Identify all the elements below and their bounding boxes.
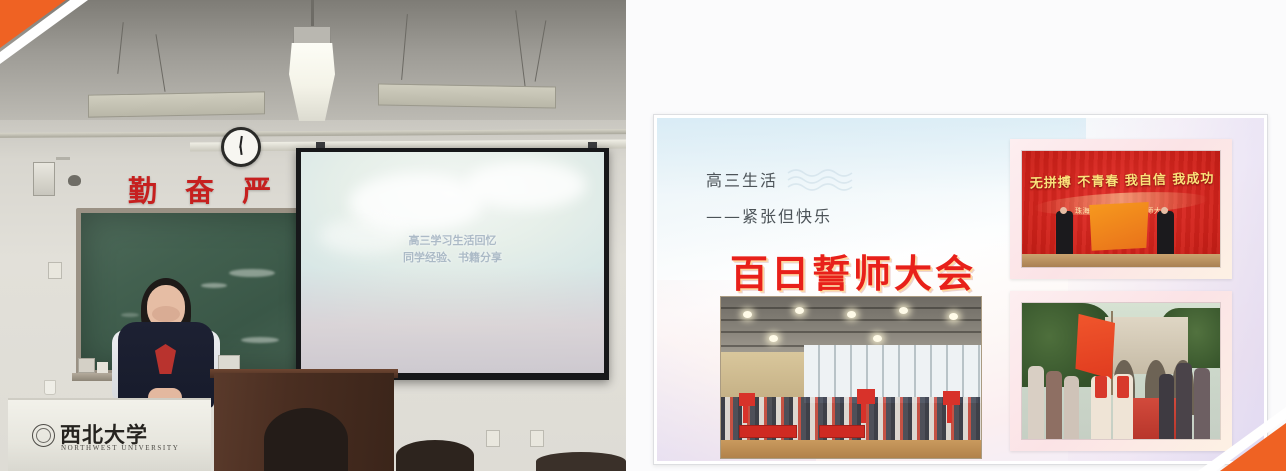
wall-speaker xyxy=(33,162,55,196)
university-name-en: NORTHWEST UNIVERSITY xyxy=(61,444,179,452)
slide-title: 百日誓师大会 xyxy=(730,243,976,298)
paper-cup xyxy=(44,380,56,395)
slide-pane: 高三生活 ——紧张但快乐 百日誓师大会 xyxy=(626,0,1286,471)
blackboard-eraser xyxy=(78,358,95,373)
ceiling-light-panel xyxy=(88,91,265,117)
audience-head xyxy=(264,408,348,471)
red-banner-ceremony-photo: 无拼搏 不青春 我自信 我成功 珠海一中 高三百日誓师大会 xyxy=(1021,150,1221,268)
slide-heading-line-1: 高三生活 xyxy=(706,167,778,191)
presentation-slide: 高三生活 ——紧张但快乐 百日誓师大会 xyxy=(653,114,1268,465)
lamp-rod xyxy=(311,0,314,28)
presenter-face-shadow xyxy=(152,306,180,322)
chalk-box xyxy=(97,362,108,373)
classroom-photo-pane: 勤 奋 严 谨 高三学习生活回忆 同学经验、书籍分享 xyxy=(0,0,626,471)
red-banner-ceremony-card: 无拼搏 不青春 我自信 我成功 珠海一中 高三百日誓师大会 xyxy=(1010,139,1232,279)
projector-screen-text: 高三学习生活回忆 同学经验、书籍分享 xyxy=(301,232,604,266)
screenshot-stage: 勤 奋 严 谨 高三学习生活回忆 同学经验、书籍分享 xyxy=(0,0,1286,471)
ceiling-light-panel xyxy=(378,83,556,108)
wall-outlet-icon xyxy=(530,430,544,447)
audience-head xyxy=(396,440,474,471)
red-flag-icon xyxy=(1075,314,1115,379)
university-seal-icon xyxy=(32,424,55,447)
flag-procession-photo xyxy=(1021,302,1221,440)
lectern-object xyxy=(218,355,240,370)
wavy-lines-decoration-icon xyxy=(786,167,856,193)
audience-head xyxy=(536,452,626,471)
lamp-mount xyxy=(293,26,331,44)
wall-outlet-icon xyxy=(48,262,62,279)
projector-text-line-2: 同学经验、书籍分享 xyxy=(301,249,604,266)
wall-clock-icon xyxy=(221,127,261,167)
gymnasium-assembly-photo xyxy=(720,296,982,459)
sensor-arm xyxy=(56,157,70,160)
projector-screen-surface: 高三学习生活回忆 同学经验、书籍分享 xyxy=(301,152,604,373)
orange-ceremonial-flag xyxy=(1089,202,1148,251)
motion-sensor-icon xyxy=(68,175,81,186)
flag-procession-card xyxy=(1010,291,1232,451)
wall-outlet-icon xyxy=(486,430,500,447)
slide-heading-line-2: ——紧张但快乐 xyxy=(706,203,832,227)
projector-text-line-1: 高三学习生活回忆 xyxy=(301,232,604,249)
projector-screen: 高三学习生活回忆 同学经验、书籍分享 xyxy=(296,148,609,380)
